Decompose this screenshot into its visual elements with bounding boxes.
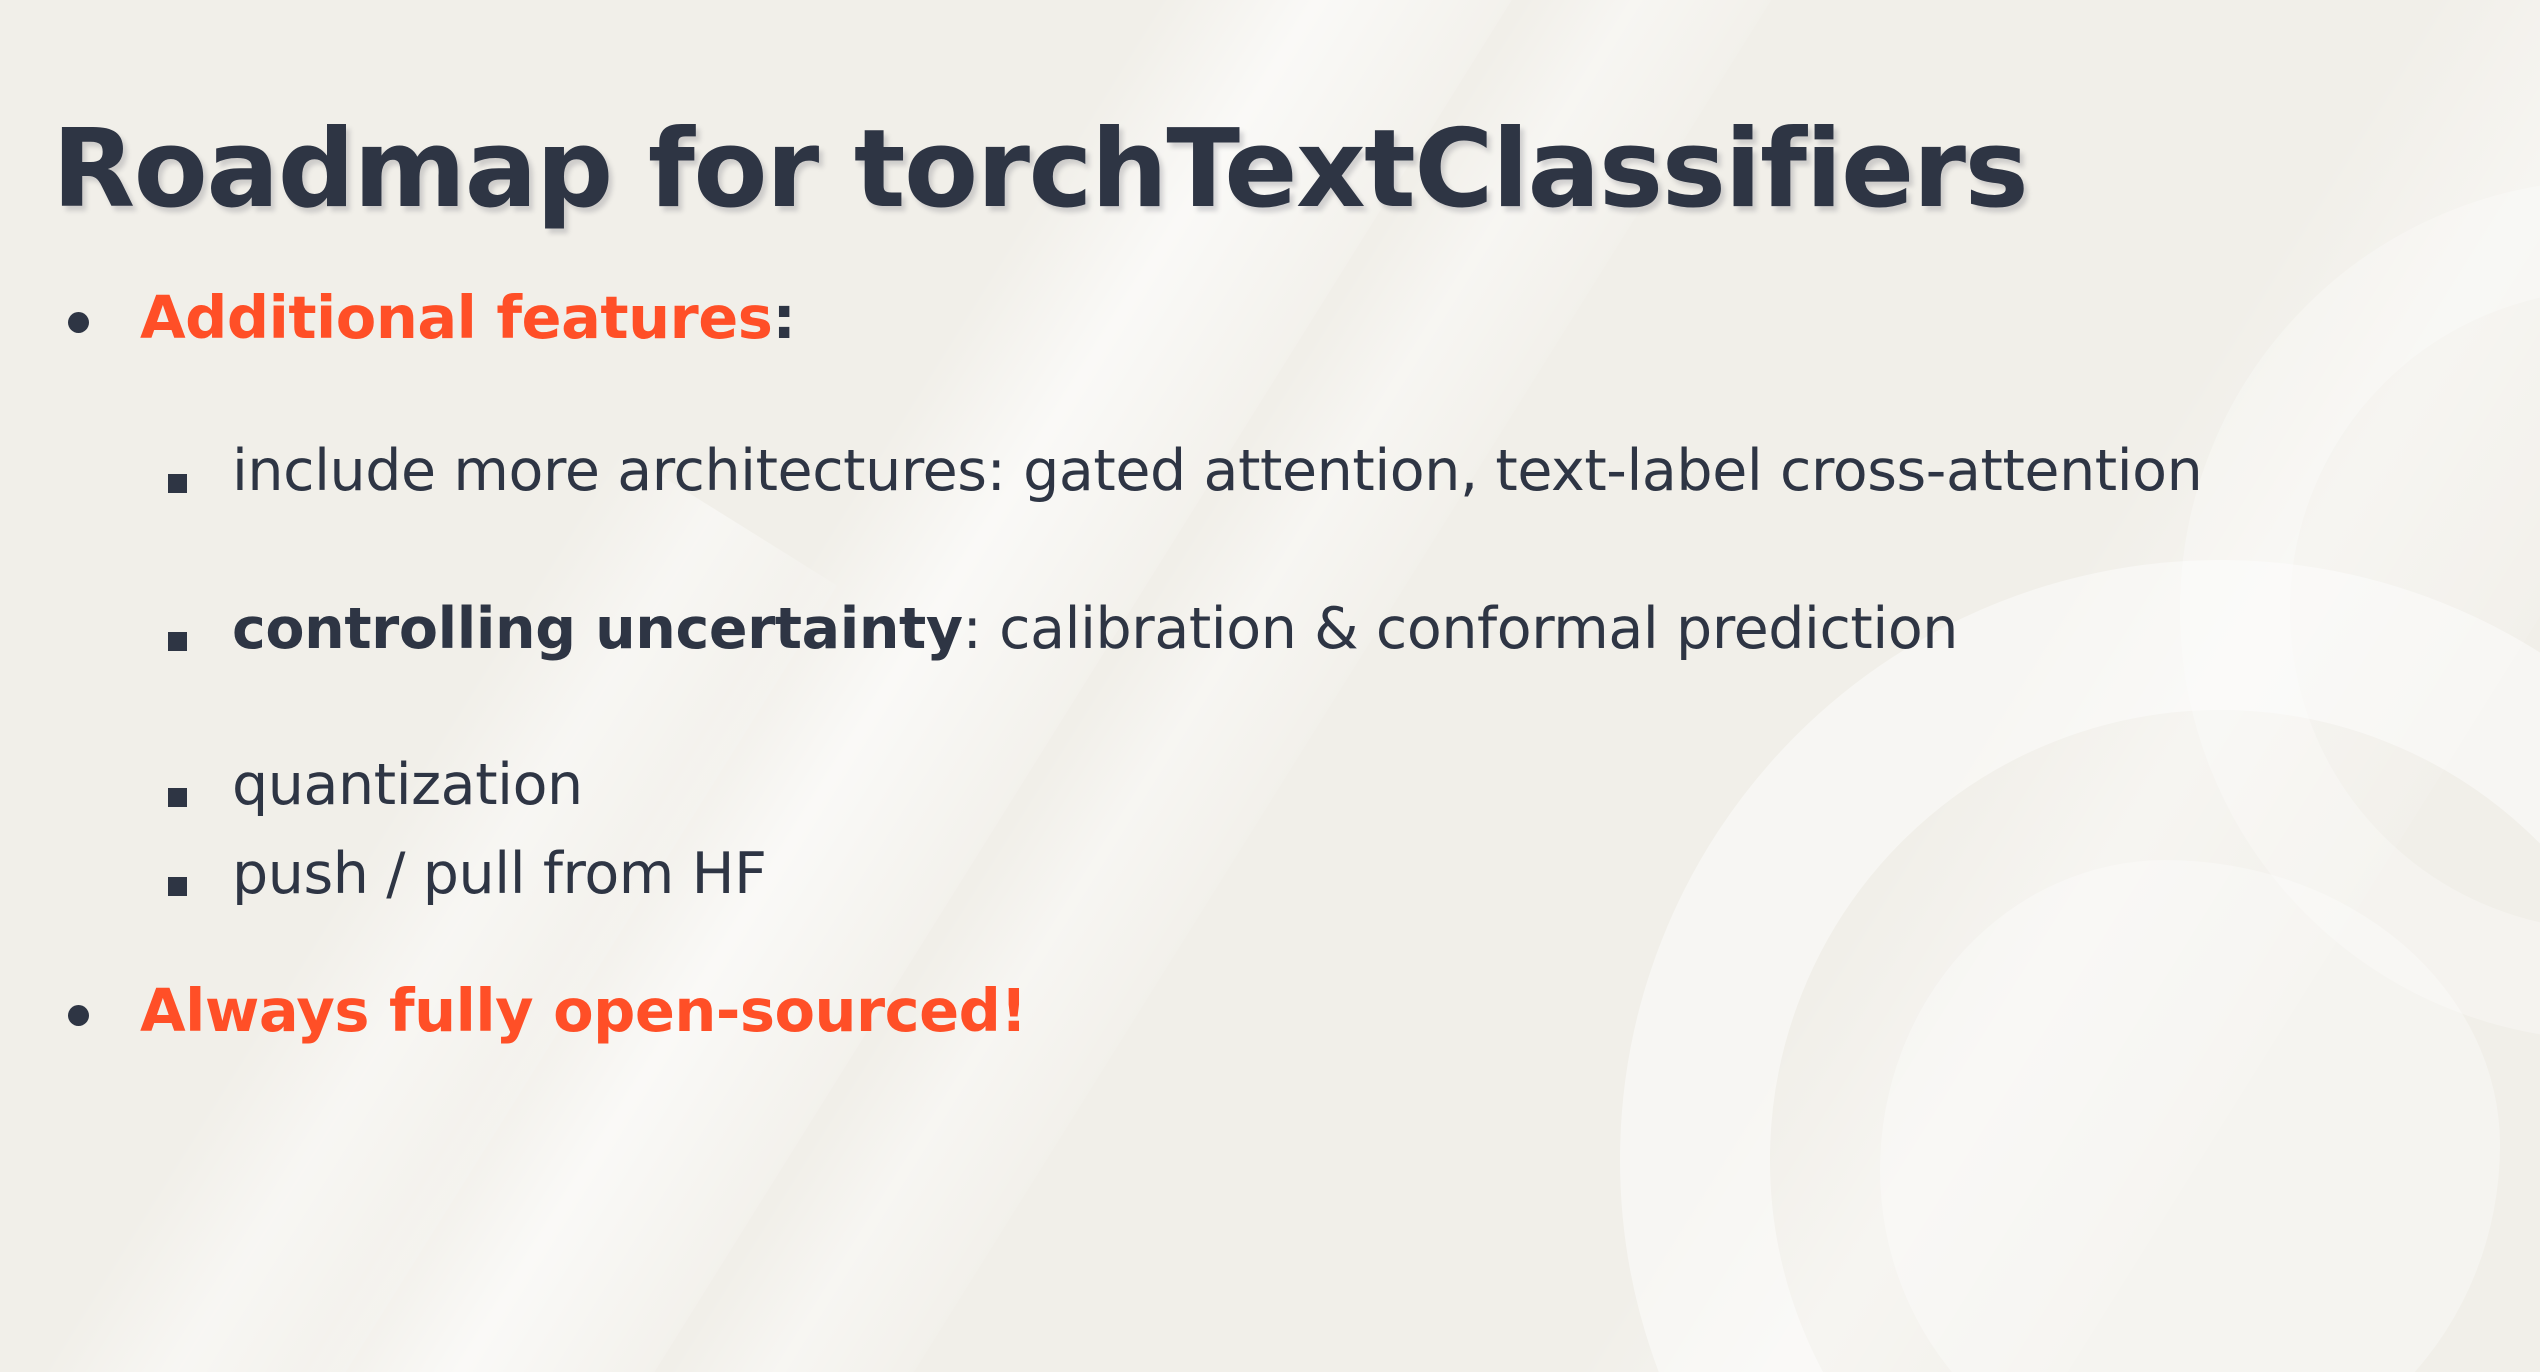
- list-item-text: push / pull from HF: [232, 841, 767, 907]
- list-item-text: : calibration & conformal prediction: [963, 596, 1958, 662]
- list-item-label: Always fully open-sourced!: [140, 971, 2540, 1050]
- bullet-dot-icon: [68, 1005, 89, 1026]
- list-item-emphasis: Additional features: [140, 283, 772, 352]
- list-item: push / pull from HF: [0, 841, 2540, 909]
- list-item-label: controlling uncertainty: calibration & c…: [232, 596, 2510, 664]
- bullet-square-icon: [168, 788, 187, 807]
- list-item: quantization: [0, 752, 2540, 820]
- slide: Roadmap for torchTextClassifiers Additio…: [0, 0, 2540, 1372]
- bullet-square-icon: [168, 474, 187, 493]
- bullet-dot-icon: [68, 312, 89, 333]
- list-item: controlling uncertainty: calibration & c…: [0, 596, 2540, 664]
- bullet-list: Additional features: include more archit…: [0, 278, 2540, 1063]
- list-item-text: quantization: [232, 752, 583, 818]
- bullet-square-icon: [168, 632, 187, 651]
- list-item-label: quantization: [232, 752, 2510, 820]
- list-item-text: include more architectures: gated attent…: [232, 438, 2202, 504]
- list-item: include more architectures: gated attent…: [0, 438, 2540, 506]
- list-item-emphasis: Always fully open-sourced!: [140, 976, 1027, 1045]
- page-title: Roadmap for torchTextClassifiers: [52, 110, 2027, 231]
- list-item-label: include more architectures: gated attent…: [232, 438, 2510, 506]
- list-item: Always fully open-sourced!: [0, 971, 2540, 1063]
- list-item: Additional features:: [0, 278, 2540, 370]
- list-item-label: push / pull from HF: [232, 841, 2510, 909]
- list-item-trailing: :: [772, 283, 795, 352]
- bullet-square-icon: [168, 877, 187, 896]
- sub-bullet-list: include more architectures: gated attent…: [0, 438, 2540, 909]
- list-item-label: Additional features:: [140, 278, 2540, 357]
- list-item-strong: controlling uncertainty: [232, 596, 963, 662]
